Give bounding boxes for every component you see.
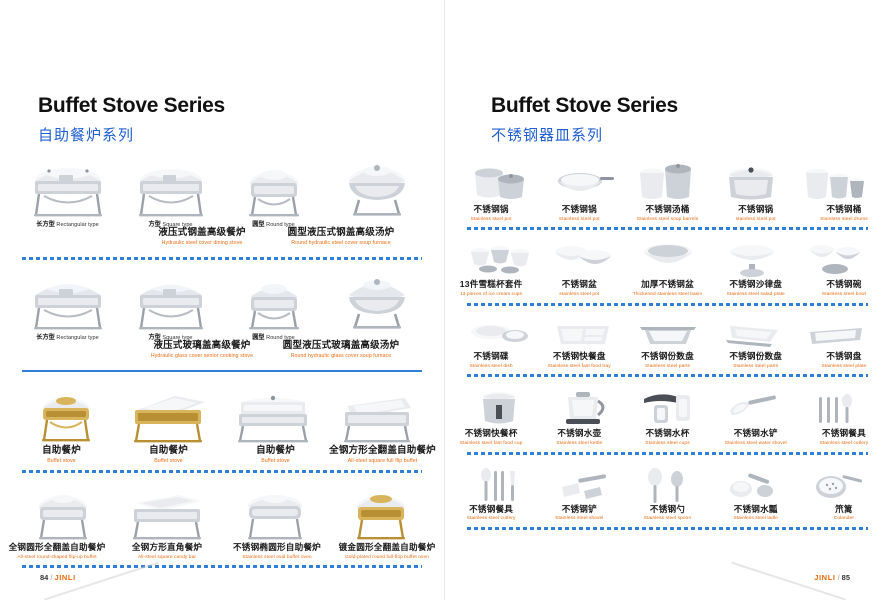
product-name-cn: 不锈钢椭圆形自助餐炉 bbox=[233, 543, 321, 553]
product-cell-labels: 笊篱 Colander bbox=[800, 505, 888, 522]
product-cell-labels: 不锈钢份数盘 Stainless steel parts bbox=[712, 352, 800, 369]
product-cell[interactable] bbox=[710, 238, 794, 280]
product-name-cn: 13件雪糕杯套件 bbox=[460, 280, 523, 290]
product-cell[interactable] bbox=[16, 163, 119, 219]
product-cell-labels: 不锈钢锅 Stainless steel pot bbox=[447, 205, 535, 222]
product-cell-labels: 不锈钢水杯 Stainless steel cups bbox=[623, 429, 711, 446]
buffet-stove-allsteel-square-icon bbox=[335, 388, 421, 446]
product-cell-labels: 不锈钢水壶 Stainless steel kettle bbox=[535, 429, 623, 446]
product-name-en: Stainless steel pot bbox=[559, 217, 600, 223]
left-page-footer: 84/JINLI bbox=[0, 556, 444, 590]
product-cell-labels: 不锈钢份数盘 Stainless steel parts bbox=[623, 352, 711, 369]
right-page-title-block: Buffet Stove Series 不锈钢器皿系列 bbox=[445, 80, 890, 145]
steel-plate-icon bbox=[804, 316, 868, 352]
product-name-en: Colander bbox=[834, 516, 854, 522]
right-page-title-cn: 不锈钢器皿系列 bbox=[491, 124, 890, 145]
product-cell[interactable] bbox=[794, 316, 878, 352]
footer-brand: JINLI bbox=[54, 573, 75, 582]
product-name-cn: 笊篱 bbox=[835, 505, 853, 515]
product-name-cn: 自助餐炉 bbox=[149, 446, 188, 457]
product-row: 不锈钢锅 Stainless steel pot 不锈钢锅 Stainless … bbox=[445, 151, 890, 230]
product-name-en: Stainless steel cutlery bbox=[820, 441, 869, 447]
row-divider bbox=[22, 470, 422, 473]
row-divider bbox=[22, 257, 422, 260]
gastronorm-pan-icon bbox=[636, 316, 700, 352]
left-page-title-cn: 自助餐炉系列 bbox=[38, 124, 444, 145]
product-cell[interactable] bbox=[325, 159, 428, 219]
chafing-dish-square-steel-icon bbox=[129, 163, 213, 219]
product-row: 13件雪糕杯套件 13 pieces of ice cream cups 不锈钢… bbox=[445, 234, 890, 305]
product-name-cn: 不锈钢汤桶 bbox=[646, 205, 690, 215]
product-cell[interactable] bbox=[709, 157, 792, 205]
chafing-dish-square-glass-icon bbox=[129, 278, 213, 332]
product-cell-labels: 不锈钢汤桶 Stainless steel soup barrels bbox=[623, 205, 711, 222]
product-cell[interactable] bbox=[457, 316, 541, 352]
product-cell[interactable] bbox=[16, 278, 119, 332]
product-name-en: Stainless steel cutlery bbox=[467, 516, 516, 522]
product-name-en: Round hydraulic glass cover soup furnace bbox=[242, 354, 440, 360]
product-cell-labels: 不锈钢快餐盘 Stainless steel fast food tray bbox=[535, 352, 623, 369]
steel-bowl-set-icon bbox=[804, 238, 868, 280]
product-name-cn: 不锈钢沙律盘 bbox=[729, 280, 782, 290]
product-name-cn: 不锈钢碟 bbox=[474, 352, 509, 362]
product-cell-labels: 不锈钢水瓢 Stainless steel ladle bbox=[712, 505, 800, 522]
product-name-cn: 不锈钢桶 bbox=[826, 205, 861, 215]
buffet-round-flipup-icon bbox=[22, 487, 104, 543]
row-divider bbox=[467, 452, 868, 455]
product-name-cn: 不锈钢水杯 bbox=[646, 429, 690, 439]
product-cell[interactable] bbox=[625, 238, 709, 280]
product-cell[interactable] bbox=[325, 274, 428, 332]
buffet-oval-icon bbox=[234, 487, 316, 543]
product-cell-labels: 不锈钢铲 Stainless steel shovel bbox=[535, 505, 623, 522]
product-name-en: All-steel square full flip buffet bbox=[348, 459, 418, 465]
wok-pan-icon bbox=[552, 157, 616, 205]
product-name-en: 13 pieces of ice cream cups bbox=[460, 292, 522, 298]
product-cell-labels: 不锈钢盘 Stainless steel plate bbox=[800, 352, 888, 369]
product-name-cn: 镀金圆形全翻盖自助餐炉 bbox=[339, 543, 436, 553]
product-name-cn: 自助餐炉 bbox=[256, 446, 295, 457]
page-number-block: 84/JINLI bbox=[40, 573, 76, 582]
product-name-en: Stainless steel cups bbox=[645, 441, 689, 447]
product-cell[interactable] bbox=[457, 465, 541, 505]
product-name-en: Stainless steel dish bbox=[470, 364, 513, 370]
product-cell-labels: 全钢方形全翻盖自助餐炉 All-steel square full flip b… bbox=[329, 446, 436, 465]
ice-cream-cup-set-icon bbox=[466, 238, 532, 280]
product-row: 自助餐炉 Buffet stove 自助餐炉 Buffet stove 自助餐炉… bbox=[0, 380, 444, 473]
product-name-en: Thickened stainless steel basin bbox=[633, 292, 703, 298]
product-name-en: Stainless steel ladle bbox=[733, 516, 778, 522]
product-name-cn: 不锈钢餐具 bbox=[469, 505, 513, 515]
product-cell-labels: 自助餐炉 Buffet stove bbox=[8, 446, 115, 465]
buffet-stove-rolltop-icon bbox=[231, 388, 317, 446]
product-name-en: stainless steel pot bbox=[559, 292, 599, 298]
product-cell[interactable] bbox=[625, 316, 709, 352]
product-name-en: Stainless steel shovel bbox=[555, 516, 603, 522]
product-cell-labels: 不锈钢碟 Stainless steel dish bbox=[447, 352, 535, 369]
product-name-en: Buffet stove bbox=[261, 459, 290, 465]
product-cell[interactable] bbox=[541, 238, 625, 280]
product-cell[interactable] bbox=[794, 465, 878, 505]
soup-barrel-set-icon bbox=[634, 155, 702, 205]
product-cell-labels: 不锈钢碗 Stainless steel bowl bbox=[800, 280, 888, 297]
colander-icon bbox=[807, 465, 865, 505]
product-name-en: Stainless steel bowl bbox=[822, 292, 866, 298]
product-cell[interactable] bbox=[459, 157, 542, 205]
product-name-cn: 不锈钢铲 bbox=[562, 505, 597, 515]
product-name-cn: 加厚不锈钢盆 bbox=[641, 280, 694, 290]
product-cell[interactable] bbox=[116, 487, 222, 543]
product-cell[interactable] bbox=[222, 487, 328, 543]
product-name-en: stainless steel pot bbox=[736, 217, 776, 223]
product-cell[interactable] bbox=[710, 385, 794, 429]
product-row: 不锈钢餐具 Stainless steel cutlery 不锈钢铲 Stain… bbox=[445, 459, 890, 530]
product-cell[interactable] bbox=[794, 238, 878, 280]
product-name-en: Stainless steel parts bbox=[645, 364, 690, 370]
buffet-gold-round-flip-icon bbox=[340, 487, 422, 543]
page-number-block: JINLI/85 bbox=[814, 573, 850, 582]
product-cell-labels: 长方型 Rectangular type bbox=[16, 219, 119, 228]
fast-food-cup-icon bbox=[470, 385, 528, 429]
gastronorm-pan-lid-icon bbox=[720, 316, 784, 352]
covered-pot-icon bbox=[719, 157, 783, 205]
page-number: 85 bbox=[842, 573, 850, 582]
steel-basin-stack-icon bbox=[551, 238, 615, 280]
product-cell[interactable] bbox=[626, 155, 709, 205]
product-cell-labels: 不锈钢快餐杯 Stainless steel fast food cup bbox=[447, 429, 535, 446]
right-page-footer: JINLI/85 bbox=[445, 556, 890, 590]
steel-ladle-icon bbox=[723, 465, 781, 505]
product-row: 长方型 Rectangular type 方型 Square type 圆型 bbox=[0, 266, 444, 372]
product-cell[interactable] bbox=[10, 487, 116, 543]
product-cell[interactable] bbox=[710, 465, 794, 505]
product-name-cn: 不锈钢份数盘 bbox=[729, 352, 782, 362]
product-name-cn: 不锈钢快餐盘 bbox=[553, 352, 606, 362]
thermos-cups-icon bbox=[638, 385, 698, 429]
product-name-en: Stainless steel soup barrels bbox=[637, 217, 698, 223]
product-name-cn: 不锈钢水铲 bbox=[734, 429, 778, 439]
product-cell-labels: 不锈钢水铲 Stainless steel water shovel bbox=[712, 429, 800, 446]
product-cell[interactable] bbox=[710, 316, 794, 352]
product-row: 长方型 Rectangular type 方型 Square type bbox=[0, 151, 444, 260]
product-cell[interactable] bbox=[625, 465, 709, 505]
product-cell[interactable] bbox=[14, 388, 118, 446]
product-name-en: Stainless steel pot bbox=[471, 217, 512, 223]
product-name-cn: 不锈钢份数盘 bbox=[641, 352, 694, 362]
product-name-en: Stainless steel spoon bbox=[644, 516, 691, 522]
soup-tureen-glass-large-icon bbox=[331, 274, 423, 332]
product-cell-labels: 不锈钢勺 Stainless steel spoon bbox=[623, 505, 711, 522]
product-cell-labels: 不锈钢盆 stainless steel pot bbox=[535, 280, 623, 297]
buffet-square-candybar-icon bbox=[126, 487, 212, 543]
product-name-cn: 不锈钢盆 bbox=[562, 280, 597, 290]
cutlery-bundle-icon bbox=[470, 465, 528, 505]
product-name-cn: 不锈钢盘 bbox=[826, 352, 861, 362]
product-cell[interactable] bbox=[625, 385, 709, 429]
product-cell[interactable] bbox=[794, 385, 878, 429]
product-cell[interactable] bbox=[118, 388, 222, 446]
product-name-en: Stainless steel fast food tray bbox=[548, 364, 611, 370]
right-product-rows: 不锈钢锅 Stainless steel pot 不锈钢锅 Stainless … bbox=[445, 151, 890, 530]
row-divider bbox=[467, 374, 868, 377]
product-cell[interactable] bbox=[119, 163, 222, 219]
steel-spoon-icon bbox=[639, 465, 697, 505]
product-name-cn: 全钢方形直角餐炉 bbox=[132, 543, 202, 553]
steel-shovel-icon bbox=[554, 465, 612, 505]
product-name-en: Stainless steel plate bbox=[822, 364, 867, 370]
water-shovel-icon bbox=[722, 385, 782, 429]
fast-food-tray-icon bbox=[551, 316, 615, 352]
product-cell-labels: 不锈钢桶 Stainless steel drums bbox=[800, 205, 888, 222]
right-page: Buffet Stove Series 不锈钢器皿系列 bbox=[445, 0, 890, 600]
chafing-dish-rect-glass-icon bbox=[26, 278, 110, 332]
product-name-cn: 不锈钢碗 bbox=[826, 280, 861, 290]
product-cell[interactable] bbox=[222, 278, 325, 332]
left-page: Buffet Stove Series 自助餐炉系列 bbox=[0, 0, 445, 600]
product-cell[interactable] bbox=[222, 388, 326, 446]
product-cell-labels: 加厚不锈钢盆 Thickened stainless steel basin bbox=[623, 280, 711, 297]
product-name-en: Buffet stove bbox=[47, 459, 76, 465]
product-cell[interactable] bbox=[457, 385, 541, 429]
row-divider bbox=[467, 303, 868, 306]
product-cell-labels: 自助餐炉 Buffet stove bbox=[115, 446, 222, 465]
product-name-en: Round hydraulic steel cover soup furnace bbox=[246, 241, 436, 247]
chafing-dish-rect-steel-icon bbox=[26, 163, 110, 219]
stock-pot-set-icon bbox=[469, 157, 533, 205]
product-name-cn: 圆型液压式钢盖高级汤炉 bbox=[246, 228, 436, 239]
product-name-en: Stainless steel drums bbox=[820, 217, 868, 223]
product-name-cn: 不锈钢水瓢 bbox=[734, 505, 778, 515]
product-cell-labels: 不锈钢餐具 Stainless steel cutlery bbox=[800, 429, 888, 446]
product-name-en: Stainless steel water shovel bbox=[725, 441, 787, 447]
product-cell-labels: 长方型 Rectangular type bbox=[16, 332, 119, 341]
product-cell-labels: 13件雪糕杯套件 13 pieces of ice cream cups bbox=[447, 280, 535, 297]
left-product-rows: 长方型 Rectangular type 方型 Square type bbox=[0, 151, 444, 568]
soup-station-round-steel-icon bbox=[232, 163, 316, 219]
soup-tureen-round-large-icon bbox=[331, 159, 423, 219]
cutlery-set-icon bbox=[807, 385, 865, 429]
product-cell[interactable] bbox=[541, 316, 625, 352]
product-name-en: Stainless steel parts bbox=[733, 364, 778, 370]
product-name-en: Stainless steel salad plate bbox=[727, 292, 785, 298]
product-cell[interactable] bbox=[541, 385, 625, 429]
product-name-en: Stainless steel fast food cup bbox=[460, 441, 523, 447]
catalog-spread: 世纪锦厨 山东金利厨房设备有限公司 SHANDONG JINLI KITCHEN… bbox=[0, 0, 890, 600]
product-cell[interactable] bbox=[119, 278, 222, 332]
electric-kettle-icon bbox=[554, 385, 612, 429]
footer-brand: JINLI bbox=[814, 573, 835, 582]
product-row: 不锈钢碟 Stainless steel dish 不锈钢快餐盘 Stainle… bbox=[445, 310, 890, 377]
product-name-cn: 全钢方形全翻盖自助餐炉 bbox=[329, 446, 436, 457]
product-name-cn: 全钢圆形全翻盖自助餐炉 bbox=[9, 543, 106, 553]
product-cell-labels: 不锈钢餐具 Stainless steel cutlery bbox=[447, 505, 535, 522]
steel-drums-icon bbox=[801, 157, 867, 205]
product-cell[interactable] bbox=[542, 157, 625, 205]
product-name-en: Buffet stove bbox=[154, 459, 183, 465]
left-page-title-en: Buffet Stove Series bbox=[38, 94, 444, 118]
product-cell[interactable] bbox=[541, 465, 625, 505]
product-cell[interactable] bbox=[222, 163, 325, 219]
salad-plate-icon bbox=[720, 238, 784, 280]
product-name-cn: 不锈钢锅 bbox=[562, 205, 597, 215]
row-divider bbox=[22, 370, 422, 372]
product-cell[interactable] bbox=[457, 238, 541, 280]
soup-station-round-glass-icon bbox=[232, 278, 316, 332]
product-name-cn: 不锈钢餐具 bbox=[822, 429, 866, 439]
row-divider bbox=[467, 527, 868, 530]
buffet-stove-gold-round-icon bbox=[26, 388, 106, 446]
product-type-label: 长方型 Rectangular type bbox=[16, 219, 119, 228]
product-cell[interactable] bbox=[328, 487, 434, 543]
product-name-cn: 不锈钢快餐杯 bbox=[465, 429, 518, 439]
product-cell[interactable] bbox=[326, 388, 430, 446]
product-cell-labels: 不锈钢锅 Stainless steel pot bbox=[535, 205, 623, 222]
left-page-title-block: Buffet Stove Series 自助餐炉系列 bbox=[0, 80, 444, 145]
product-name-cn: 圆型液压式玻璃盖高级汤炉 bbox=[242, 341, 440, 352]
product-row: 不锈钢快餐杯 Stainless steel fast food cup 不锈钢… bbox=[445, 381, 890, 454]
product-cell[interactable] bbox=[793, 157, 876, 205]
thickened-basin-icon bbox=[636, 238, 700, 280]
product-name-cn: 不锈钢锅 bbox=[738, 205, 773, 215]
product-name-en: Stainless steel kettle bbox=[556, 441, 602, 447]
row-divider bbox=[467, 227, 868, 230]
product-name-cn: 不锈钢水壶 bbox=[557, 429, 601, 439]
steel-dish-icon bbox=[467, 316, 531, 352]
product-cell-labels: 自助餐炉 Buffet stove bbox=[222, 446, 329, 465]
right-page-title-en: Buffet Stove Series bbox=[491, 94, 890, 118]
product-name-cn: 不锈钢勺 bbox=[650, 505, 685, 515]
buffet-stove-gold-rect-icon bbox=[127, 388, 213, 446]
product-type-label: 长方型 Rectangular type bbox=[36, 332, 98, 341]
product-cell-labels: 不锈钢锅 stainless steel pot bbox=[712, 205, 800, 222]
product-name-cn: 自助餐炉 bbox=[42, 446, 81, 457]
product-cell-labels: 不锈钢沙律盘 Stainless steel salad plate bbox=[712, 280, 800, 297]
product-name-cn: 不锈钢锅 bbox=[474, 205, 509, 215]
